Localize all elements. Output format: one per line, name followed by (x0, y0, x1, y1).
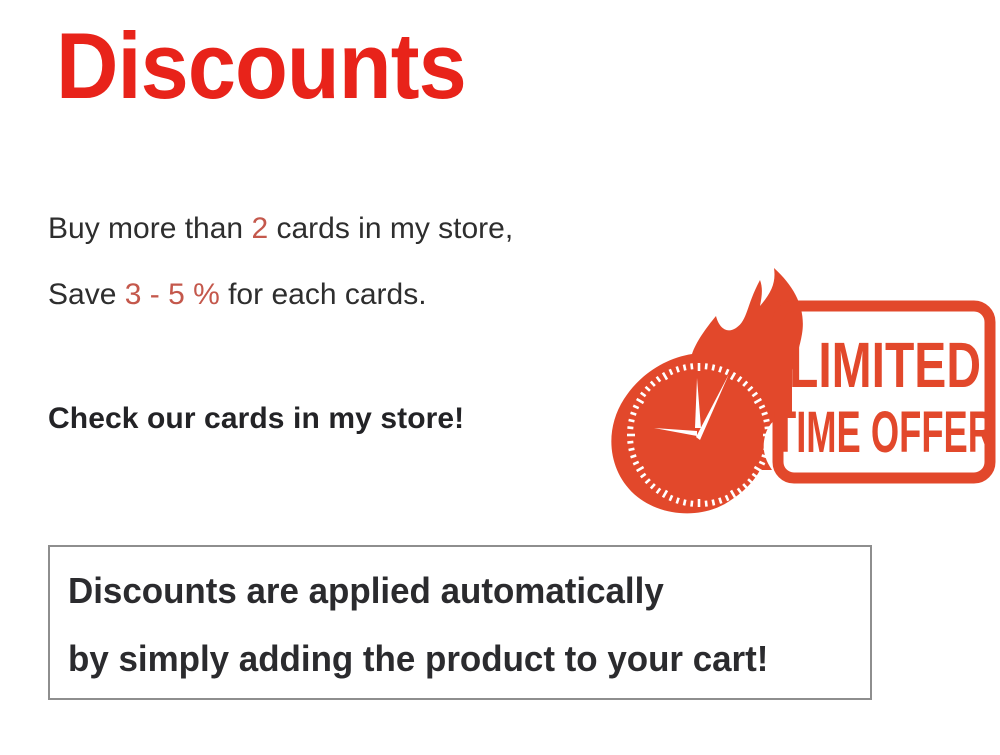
copy-line-2-prefix: Save (48, 278, 125, 311)
copy-line-2-suffix: for each cards. (220, 278, 427, 311)
limited-time-offer-plate: LIMITED TIME OFFER (774, 306, 994, 478)
note-line-2: by simply adding the product to your car… (68, 639, 768, 679)
auto-discount-note-box: Discounts are applied automatically by s… (48, 545, 872, 700)
badge-line-1: LIMITED (789, 329, 981, 401)
promo-copy-line-1: Buy more than 2 cards in my store, (48, 196, 668, 262)
page-title: Discounts (56, 18, 466, 114)
promo-banner: Discounts Buy more than 2 cards in my st… (0, 0, 1000, 755)
promo-copy-block: Buy more than 2 cards in my store, Save … (48, 196, 668, 328)
call-to-action-text: Check our cards in my store! (48, 397, 464, 441)
limited-time-offer-badge: LIMITED TIME OFFER (596, 262, 1000, 520)
copy-line-1-highlight: 2 (251, 212, 268, 245)
copy-line-1-suffix: cards in my store, (268, 212, 513, 245)
promo-copy-line-2: Save 3 - 5 % for each cards. (48, 262, 668, 328)
badge-line-2: TIME OFFER (774, 400, 994, 465)
copy-line-1-prefix: Buy more than (48, 212, 251, 245)
note-line-1: Discounts are applied automatically (68, 571, 664, 611)
copy-line-2-highlight: 3 - 5 % (125, 278, 220, 311)
